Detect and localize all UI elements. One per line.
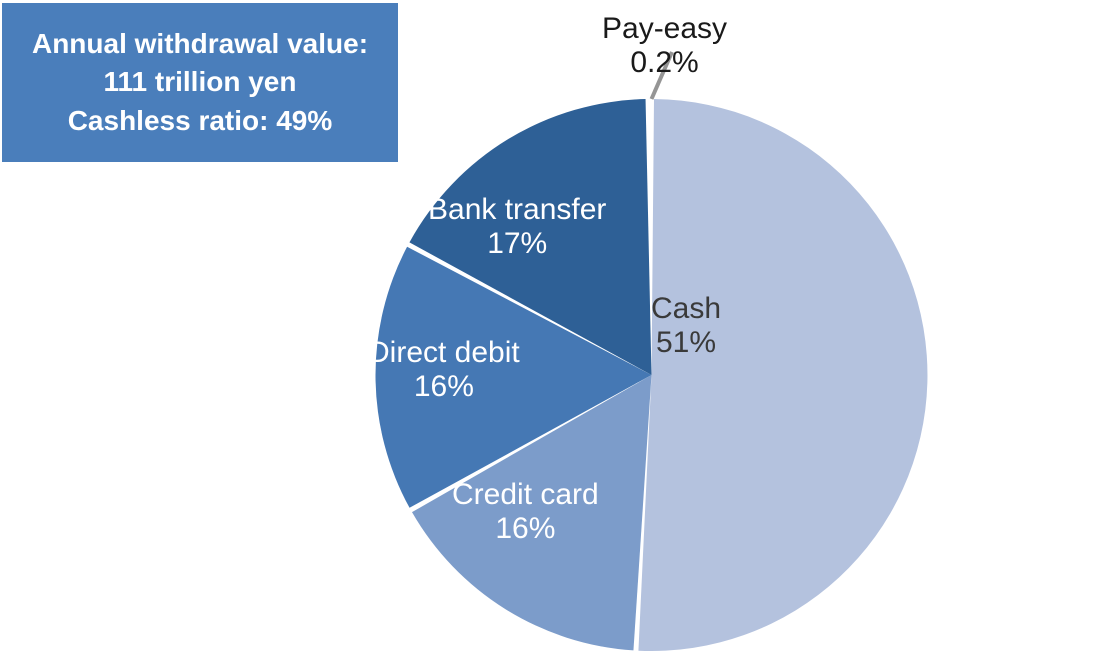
- pie-chart-svg: [0, 0, 1120, 668]
- pie-slice-cash[interactable]: [638, 99, 927, 651]
- pie-chart: [0, 0, 1120, 668]
- pay-easy-leader-line: [652, 52, 673, 99]
- chart-canvas: Annual withdrawal value: 111 trillion ye…: [0, 0, 1120, 668]
- pie-slice-group: [375, 99, 927, 651]
